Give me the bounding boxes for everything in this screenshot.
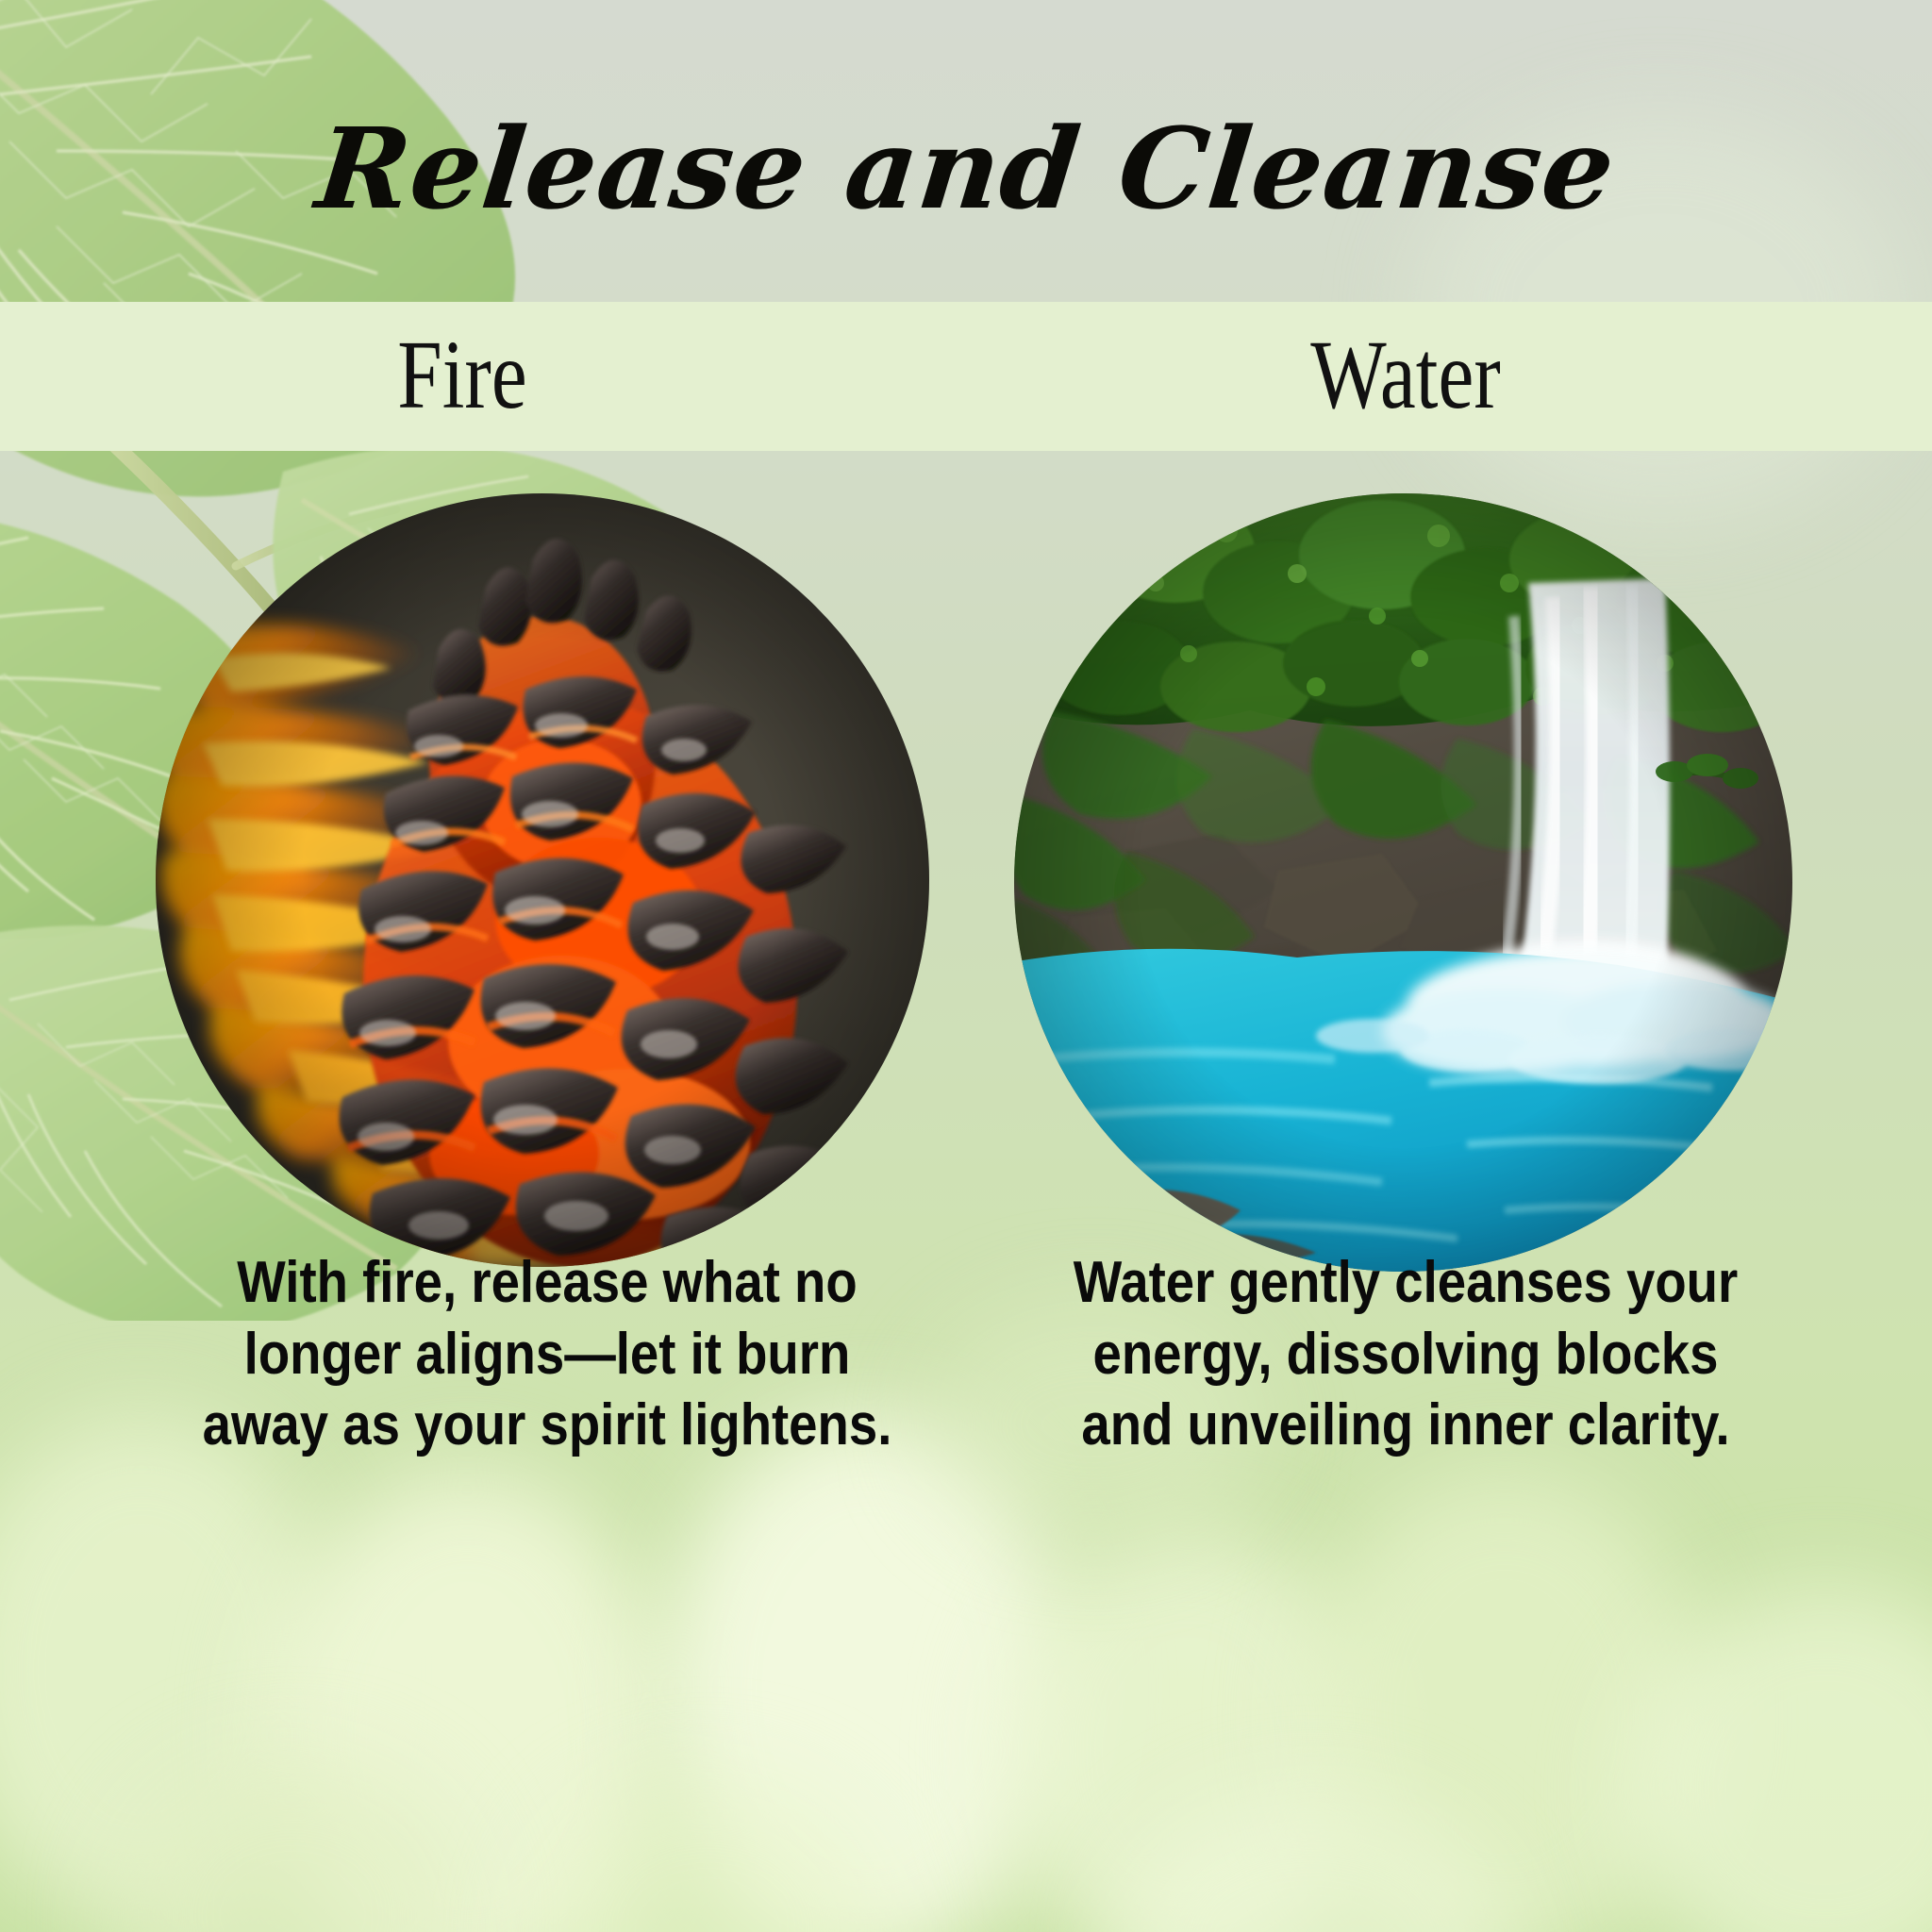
column-heading-water: Water (1096, 319, 1715, 432)
bokeh-blob (1623, 1585, 1932, 1932)
column-heading-fire: Fire (223, 319, 702, 432)
bokeh-blob (0, 1415, 340, 1924)
fire-image (156, 493, 929, 1267)
bokeh-blob (113, 1755, 472, 1932)
bokeh-blob (1113, 1792, 1509, 1932)
caption-water: Water gently cleanses your energy, disso… (1065, 1247, 1746, 1461)
water-image (1014, 493, 1792, 1272)
bokeh-blob (528, 1774, 887, 1932)
poster-canvas: Release and Cleanse Fire Water (0, 0, 1932, 1932)
page-title: Release and Cleanse (0, 113, 1932, 225)
bokeh-blob (660, 1415, 1075, 1932)
bokeh-blob (264, 1472, 670, 1932)
bokeh-blob (1000, 1528, 1377, 1932)
caption-fire: With fire, release what no longer aligns… (191, 1247, 905, 1461)
bokeh-blob (1302, 1472, 1707, 1932)
